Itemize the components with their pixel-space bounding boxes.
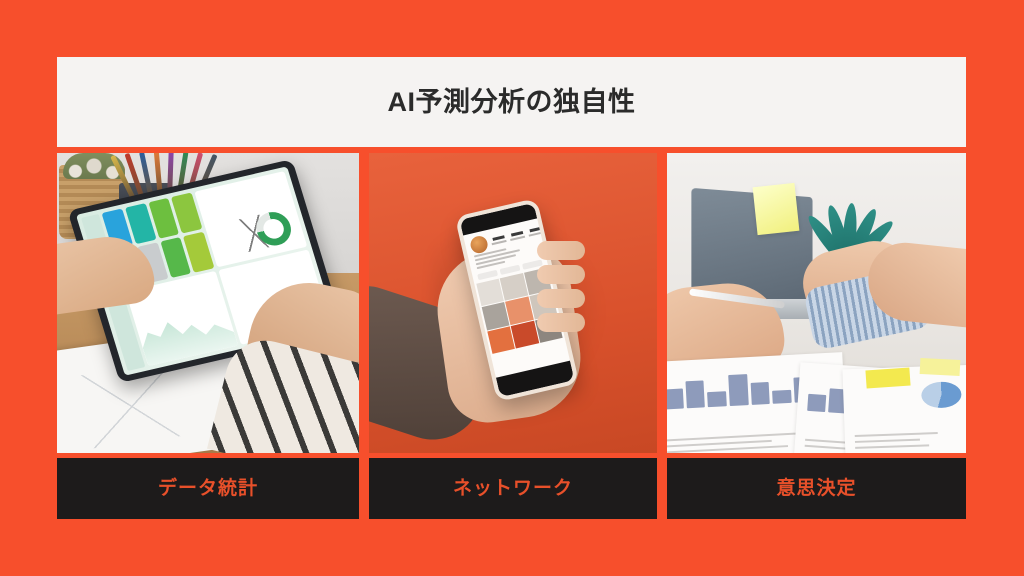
caption-label: データ統計 [158,479,258,498]
photo3-sticky-note-pale [920,358,961,376]
photo3-sticky-note [753,183,800,235]
business-meeting-photo [667,153,966,453]
photo2-stat-posts [490,235,506,245]
card-data-statistics[interactable]: データ統計 [57,153,359,519]
card-decision-making[interactable]: 意思決定 [667,153,966,519]
card-row: データ統計 [57,153,966,519]
tablet-analytics-photo [57,153,359,453]
caption-label: ネットワーク [453,479,573,498]
photo3-pie-chart [921,381,962,408]
photo3-text-lines [855,431,966,453]
photo2-fingers [537,235,595,365]
caption-label: 意思決定 [776,479,856,498]
caption-bar-data-statistics: データ統計 [57,458,359,519]
photo3-sticky-note-yellow [865,367,910,388]
slide-root: AI予測分析の独自性 [0,0,1024,576]
caption-bar-decision-making: 意思決定 [667,458,966,519]
card-network[interactable]: ネットワーク [369,153,657,519]
photo2-stat-followers [509,231,525,241]
smartphone-social-photo [369,153,657,453]
title-panel: AI予測分析の独自性 [57,57,966,147]
page-title: AI予測分析の独自性 [388,89,636,116]
caption-bar-network: ネットワーク [369,458,657,519]
